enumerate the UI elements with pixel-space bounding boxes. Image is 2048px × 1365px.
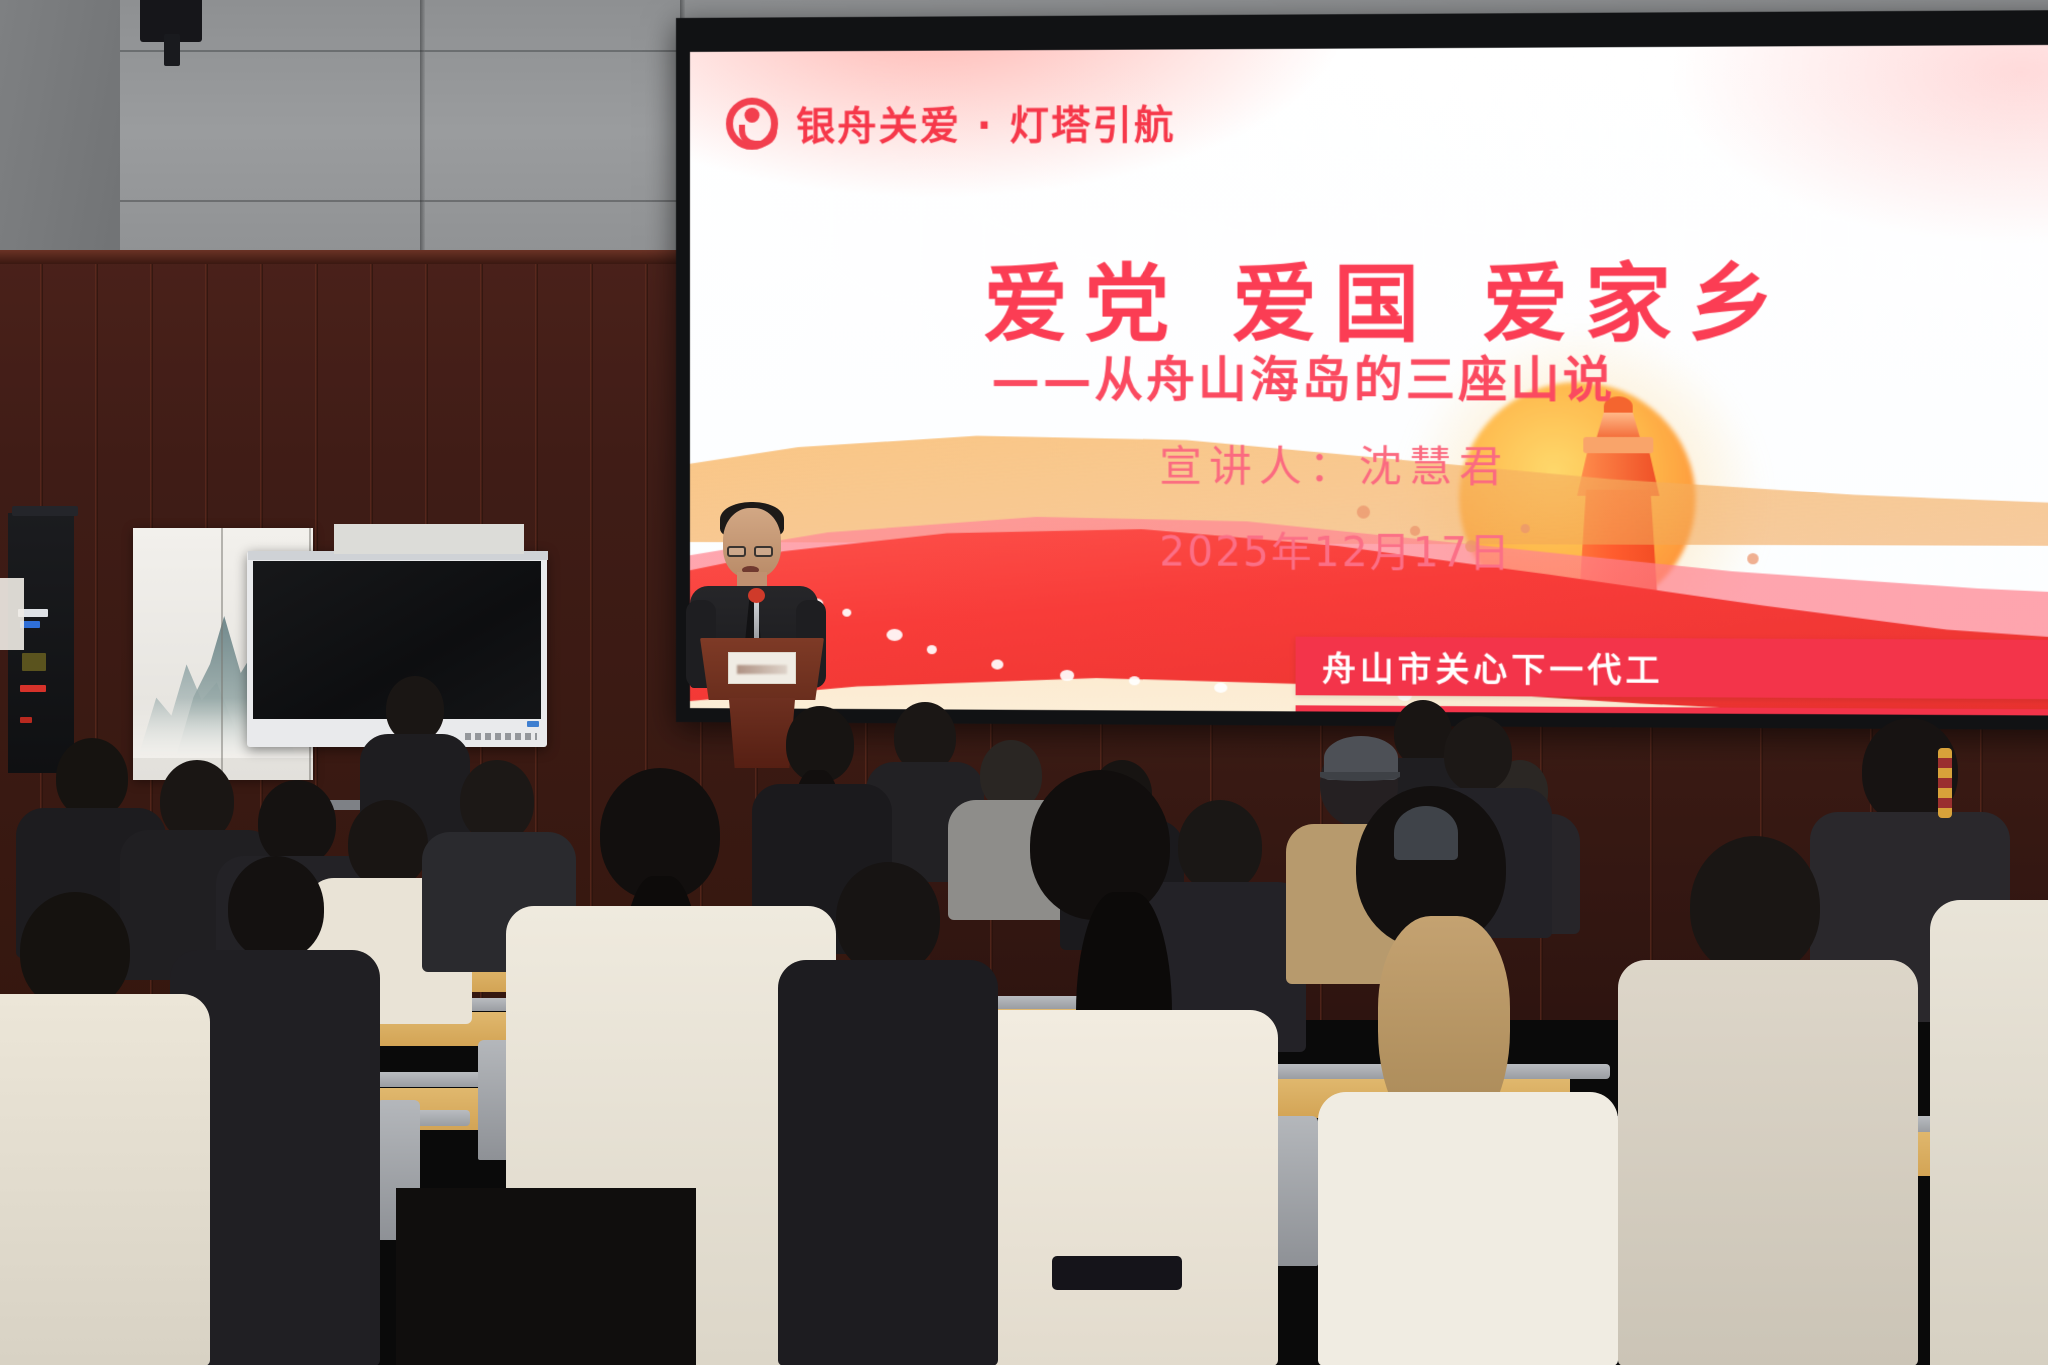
display-power-led-icon: [527, 721, 539, 727]
ceiling-speaker-icon: [140, 0, 202, 42]
heart-person-logo-icon: [726, 98, 778, 150]
audience-foreground-shoulder: [396, 1188, 696, 1365]
audience-hair-accessory-icon: [1938, 748, 1952, 818]
audience-head-foreground: [1690, 836, 1820, 976]
projection-screen: 银舟关爱 · 灯塔引航 爱党 爱国 爱家乡 ——从舟山海岛的三座山说 宣讲人：沈…: [690, 45, 2048, 716]
audience-head: [258, 780, 336, 866]
slide-subtitle: ——从舟山海岛的三座山说: [991, 340, 1615, 411]
slide-speaker-line: 宣讲人：沈慧君: [1159, 432, 1509, 494]
audience-body-foreground: [778, 960, 998, 1365]
slide-logo-text: 银舟关爱 · 灯塔引航: [796, 94, 1175, 152]
audience-body-foreground: [1618, 960, 1918, 1365]
audience-collar: [1052, 1256, 1182, 1290]
audience-cap-foreground-icon: [1394, 806, 1458, 860]
speaker-glasses-left-icon: [727, 546, 746, 557]
audience-cap-brim-icon: [1320, 772, 1400, 781]
audience-head: [386, 676, 444, 742]
display-brand-icon: [465, 733, 537, 740]
audience-head: [1178, 800, 1262, 892]
microphone-icon: [748, 588, 765, 603]
audience-head: [836, 862, 940, 974]
audience-head: [348, 800, 428, 888]
audience-head: [228, 856, 324, 960]
audience-body-foreground: [0, 994, 210, 1365]
seat-back: [1272, 1116, 1318, 1266]
audience-head: [20, 892, 130, 1010]
audience-head: [1444, 716, 1512, 792]
podium-top: [700, 638, 824, 700]
podium-name-card: [728, 652, 796, 684]
audience-head-foreground: [1030, 770, 1170, 920]
posted-notice: [0, 578, 24, 650]
speaker-glasses-right-icon: [754, 546, 773, 557]
lecture-hall-photo: 银舟关爱 · 灯塔引航 爱党 爱国 爱家乡 ——从舟山海岛的三座山说 宣讲人：沈…: [0, 0, 2048, 1365]
audience-body-foreground: [1318, 1092, 1618, 1365]
projection-screen-frame: 银舟关爱 · 灯塔引航 爱党 爱国 爱家乡 ——从舟山海岛的三座山说 宣讲人：沈…: [676, 10, 2048, 730]
audience-head: [56, 738, 128, 818]
slide-date-line: 2025年12月17日: [1159, 519, 1512, 579]
wall-backer-panel: [334, 524, 524, 554]
audience-head: [460, 760, 534, 842]
audience-body-edge: [1930, 900, 2048, 1365]
slide-banner-organizer: 舟山市关心下一代工: [1296, 637, 2048, 700]
slide-logo: 银舟关爱 · 灯塔引航: [726, 94, 1176, 152]
